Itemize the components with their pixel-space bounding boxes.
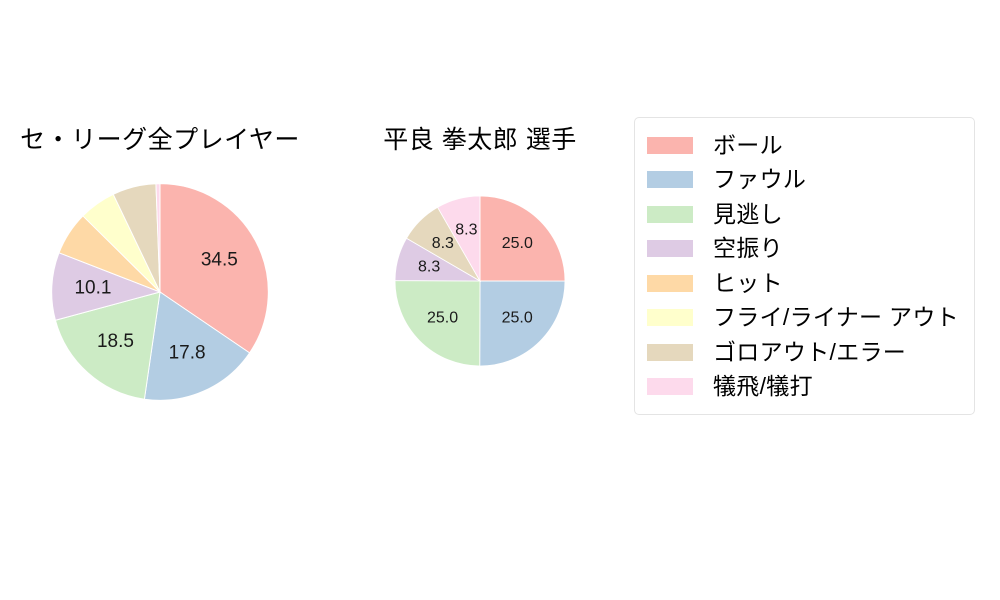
pie-panel-player: 平良 拳太郎 選手 25.025.025.08.38.38.3	[330, 100, 630, 420]
pie-chart-figure: セ・リーグ全プレイヤー 34.517.818.510.1 平良 拳太郎 選手 2…	[0, 0, 1000, 600]
legend-item[interactable]: 見逃し	[635, 197, 974, 231]
pie-slice-value-label: 25.0	[427, 309, 458, 326]
panel-title-player: 平良 拳太郎 選手	[330, 120, 630, 156]
legend-item[interactable]: 空振り	[635, 232, 974, 266]
pie-slice-value-label: 10.1	[74, 277, 111, 298]
pie-slice-value-label: 8.3	[455, 221, 477, 238]
legend-swatch-icon	[647, 309, 693, 326]
panel-title-league: セ・リーグ全プレイヤー	[0, 120, 320, 156]
pie-slice-value-label: 8.3	[418, 258, 440, 275]
legend-item-label: 犠飛/犠打	[713, 375, 813, 398]
legend-item[interactable]: ボール	[635, 128, 974, 162]
chart-legend: ボールファウル見逃し空振りヒットフライ/ライナー アウトゴロアウト/エラー犠飛/…	[634, 117, 975, 415]
legend-swatch-icon	[647, 275, 693, 292]
legend-swatch-icon	[647, 206, 693, 223]
pie-slice-value-label: 34.5	[201, 250, 238, 271]
legend-swatch-icon	[647, 137, 693, 154]
legend-list: ボールファウル見逃し空振りヒットフライ/ライナー アウトゴロアウト/エラー犠飛/…	[635, 128, 974, 404]
legend-swatch-icon	[647, 344, 693, 361]
pie-player-svg: 25.025.025.08.38.38.3	[379, 180, 581, 382]
legend-swatch-icon	[647, 240, 693, 257]
pie-slice-value-label: 25.0	[502, 310, 533, 327]
legend-item[interactable]: フライ/ライナー アウト	[635, 301, 974, 335]
pie-slice-value-label: 17.8	[169, 342, 206, 363]
legend-item[interactable]: ゴロアウト/エラー	[635, 335, 974, 369]
pie-slice-value-label: 18.5	[97, 331, 134, 352]
legend-swatch-icon	[647, 378, 693, 395]
legend-item-label: ボール	[713, 134, 783, 157]
pie-league: 34.517.818.510.1	[46, 178, 274, 406]
legend-item-label: フライ/ライナー アウト	[713, 306, 959, 329]
legend-swatch-icon	[647, 171, 693, 188]
pie-league-svg: 34.517.818.510.1	[46, 178, 274, 406]
legend-item[interactable]: ヒット	[635, 266, 974, 300]
legend-item[interactable]: ファウル	[635, 163, 974, 197]
legend-item-label: 見逃し	[713, 203, 783, 226]
legend-item-label: 空振り	[713, 237, 783, 260]
legend-item-label: ヒット	[713, 272, 783, 295]
pie-slice-value-label: 25.0	[502, 235, 533, 252]
legend-item-label: ファウル	[713, 168, 806, 191]
legend-item-label: ゴロアウト/エラー	[713, 341, 906, 364]
legend-item[interactable]: 犠飛/犠打	[635, 370, 974, 404]
pie-slice-value-label: 8.3	[432, 235, 454, 252]
pie-panel-league: セ・リーグ全プレイヤー 34.517.818.510.1	[0, 100, 320, 420]
pie-player: 25.025.025.08.38.38.3	[379, 180, 581, 382]
